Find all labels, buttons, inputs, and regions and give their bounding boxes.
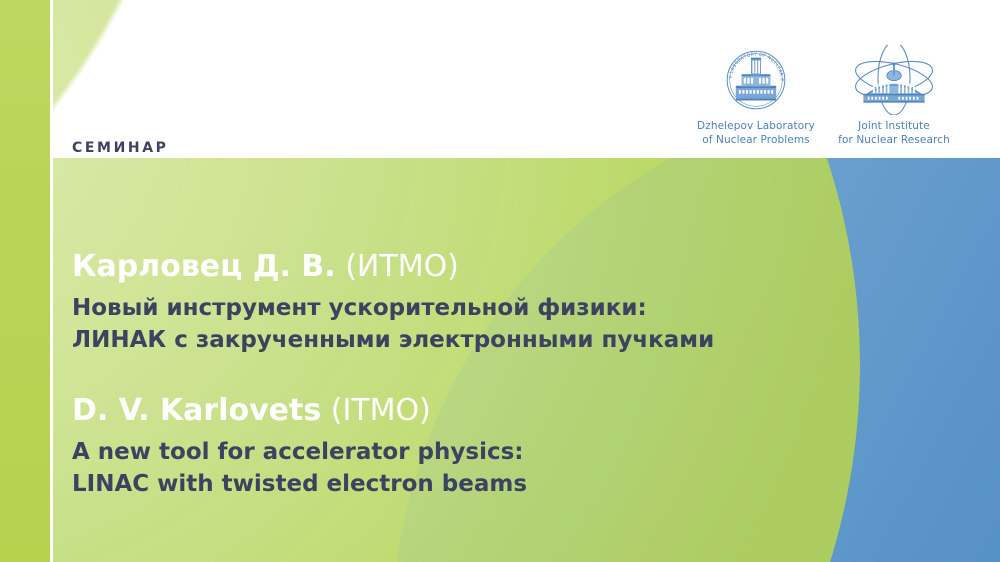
- talk-russian: Карловец Д. В. (ИТМО) Новый инструмент у…: [72, 246, 852, 356]
- jinr-atom-icon: [850, 44, 938, 116]
- logo-caption-line2: of Nuclear Problems: [697, 134, 815, 148]
- talks-list: Карловец Д. В. (ИТМО) Новый инструмент у…: [72, 246, 852, 500]
- speaker-affiliation: (ИТМО): [345, 249, 459, 284]
- dzhelepov-seal-icon: DZHELEPOV LABORATORY OF NUCLEAR PROBLEMS: [720, 44, 792, 116]
- logo-jinr: Joint Institute for Nuclear Research: [832, 44, 956, 147]
- talk-english: D. V. Karlovets (ITMO) A new tool for ac…: [72, 390, 852, 500]
- talk-title-line2: ЛИНАК с закрученными электронными пучкам…: [72, 324, 852, 356]
- logo-row: DZHELEPOV LABORATORY OF NUCLEAR PROBLEMS: [694, 44, 956, 156]
- left-white-divider: [50, 0, 53, 562]
- speaker-line: D. V. Karlovets (ITMO): [72, 390, 852, 432]
- left-accent-strip: [0, 0, 50, 562]
- talk-title-line1: A new tool for accelerator physics:: [72, 436, 852, 468]
- logo-dzhelepov-laboratory: DZHELEPOV LABORATORY OF NUCLEAR PROBLEMS: [694, 44, 818, 147]
- speaker-name: Карловец Д. В.: [72, 249, 336, 284]
- seminar-label: СЕМИНАР: [72, 140, 169, 156]
- talk-title-line2: LINAC with twisted electron beams: [72, 468, 852, 500]
- logo-caption-jinr: Joint Institute for Nuclear Research: [838, 120, 950, 147]
- speaker-name: D. V. Karlovets: [72, 393, 321, 428]
- logo-caption-line2: for Nuclear Research: [838, 134, 950, 148]
- logo-caption-dzhelepov: Dzhelepov Laboratory of Nuclear Problems: [697, 120, 815, 147]
- seminar-announcement-slide: DZHELEPOV LABORATORY OF NUCLEAR PROBLEMS: [0, 0, 1000, 562]
- logo-caption-line1: Dzhelepov Laboratory: [697, 120, 815, 132]
- talk-title-line1: Новый инструмент ускорительной физики:: [72, 292, 852, 324]
- speaker-line: Карловец Д. В. (ИТМО): [72, 246, 852, 288]
- speaker-affiliation: (ITMO): [331, 393, 431, 428]
- talk-title: A new tool for accelerator physics: LINA…: [72, 436, 852, 500]
- talk-title: Новый инструмент ускорительной физики: Л…: [72, 292, 852, 356]
- logo-caption-line1: Joint Institute: [858, 120, 930, 132]
